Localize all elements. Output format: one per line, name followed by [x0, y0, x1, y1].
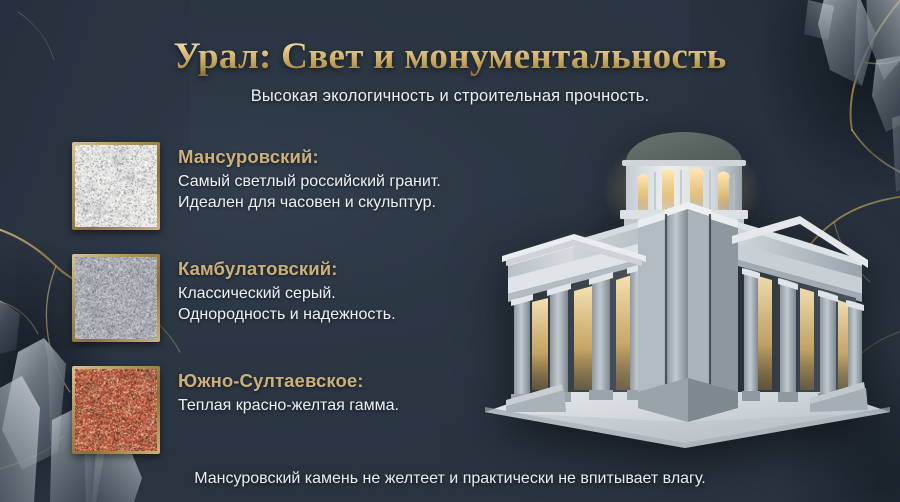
list-item-text: Южно-Султаевское: Теплая красно-желтая г… — [178, 366, 399, 416]
material-heading: Мансуровский: — [178, 145, 441, 168]
slide-canvas: Урал: Свет и монументальность Высокая эк… — [0, 0, 900, 502]
footer-note: Мансуровский камень не желтеет и практич… — [0, 470, 900, 488]
material-heading: Камбулатовский: — [178, 257, 396, 280]
material-desc-line-2: Идеален для часовен и скульптур. — [178, 192, 441, 213]
list-item[interactable]: Камбулатовский: Классический серый. Одно… — [72, 254, 502, 342]
list-item-text: Мансуровский: Самый светлый российский г… — [178, 142, 441, 214]
list-item-text: Камбулатовский: Классический серый. Одно… — [178, 254, 396, 326]
material-heading: Южно-Султаевское: — [178, 369, 399, 392]
kambulatovsky-granite-swatch — [72, 254, 160, 342]
list-item[interactable]: Мансуровский: Самый светлый российский г… — [72, 142, 502, 230]
list-item[interactable]: Южно-Султаевское: Теплая красно-желтая г… — [72, 366, 502, 454]
mansurovsky-granite-swatch — [72, 142, 160, 230]
header-block: Урал: Свет и монументальность Высокая эк… — [0, 38, 900, 106]
page-subtitle: Высокая экологичность и строительная про… — [0, 87, 900, 106]
material-desc-line-1: Классический серый. — [178, 283, 396, 304]
yuzhno-sultaevskoe-granite-swatch — [72, 366, 160, 454]
page-title: Урал: Свет и монументальность — [0, 38, 900, 77]
materials-list: Мансуровский: Самый светлый российский г… — [72, 142, 502, 454]
neoclassical-chapel-render — [470, 110, 900, 460]
footer-note-text: Мансуровский камень не желтеет и практич… — [194, 470, 705, 487]
material-desc-line-2: Однородность и надежность. — [178, 304, 396, 325]
material-desc-line-1: Теплая красно-желтая гамма. — [178, 395, 399, 416]
material-desc-line-1: Самый светлый российский гранит. — [178, 171, 441, 192]
